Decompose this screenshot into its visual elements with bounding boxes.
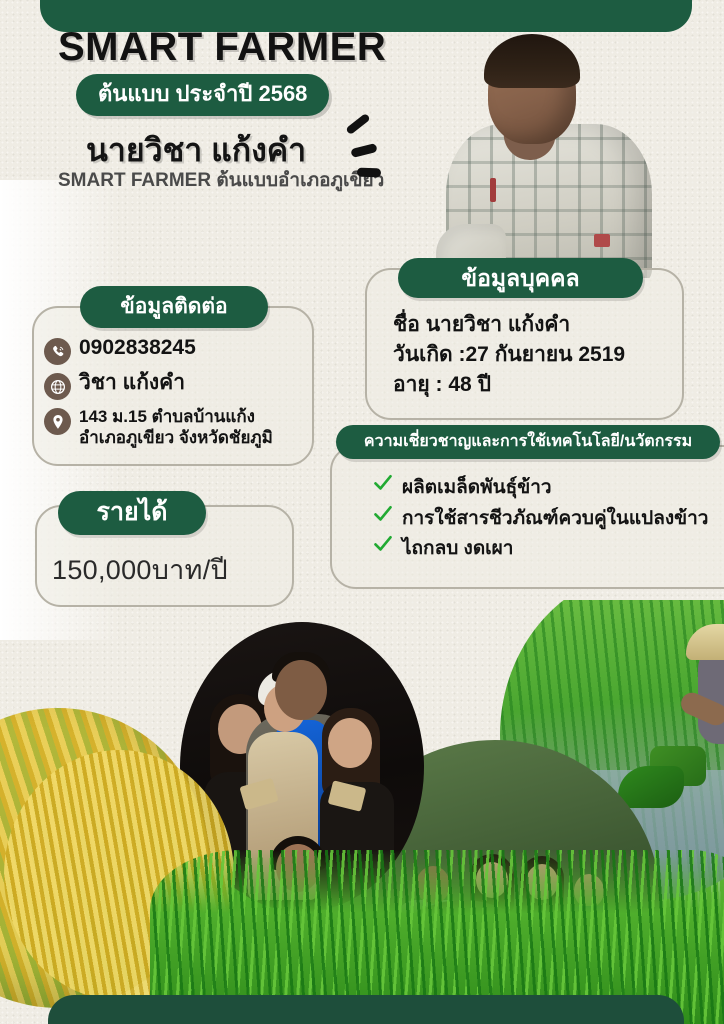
check-icon [372, 534, 396, 554]
person-row-name: ชื่อ นายวิชา แก้งคำ [393, 310, 625, 340]
expertise-item-label: การใช้สารชีวภัณฑ์ควบคู่ในแปลงข้าว [402, 507, 708, 532]
income-card-title: รายได้ [58, 491, 206, 535]
photo-collage [0, 600, 724, 1024]
contact-row-social[interactable]: วิชา แก้งคำ [44, 371, 314, 400]
contact-card-title: ข้อมูลติดต่อ [80, 286, 268, 328]
poster-root: SMART FARMER ต้นแบบ ประจำปี 2568 นายวิชา… [0, 0, 724, 1024]
expertise-item-label: ผลิตเมล็ดพันธุ์ข้าว [402, 476, 552, 501]
sparkle-icon [345, 112, 405, 184]
person-row-age: อายุ : 48 ปี [393, 370, 625, 400]
list-item: ผลิตเมล็ดพันธุ์ข้าว [372, 473, 724, 501]
page-title: SMART FARMER [58, 26, 420, 68]
location-pin-icon [44, 408, 71, 435]
farmer-portrait-photo [418, 28, 676, 278]
bottom-green-bar [48, 995, 684, 1024]
expertise-card-title: ความเชี่ยวชาญและการใช้เทคโนโลยี/นวัตกรรม [336, 425, 720, 459]
contact-list: 0902838245 วิชา แก้งคำ 143 ม.15 ตำบลบ้าน… [44, 336, 314, 455]
address-line-1: 143 ม.15 ตำบลบ้านแก้ง [79, 407, 255, 426]
contact-row-address[interactable]: 143 ม.15 ตำบลบ้านแก้ง อำเภอภูเขียว จังหว… [44, 406, 314, 449]
income-value: 150,000บาท/ปี [52, 548, 228, 591]
address-line-2: อำเภอภูเขียว จังหวัดชัยภูมิ [79, 428, 273, 447]
year-badge: ต้นแบบ ประจำปี 2568 [76, 74, 329, 116]
phone-icon [44, 338, 71, 365]
list-item: ไถกลบ งดเผา [372, 534, 724, 562]
address-text: 143 ม.15 ตำบลบ้านแก้ง อำเภอภูเขียว จังหว… [79, 406, 273, 449]
social-name: วิชา แก้งคำ [79, 371, 185, 396]
phone-number: 0902838245 [79, 336, 196, 361]
contact-row-phone[interactable]: 0902838245 [44, 336, 314, 365]
check-icon [372, 504, 396, 524]
personal-info-card-title: ข้อมูลบุคคล [398, 258, 643, 298]
globe-icon [44, 373, 71, 400]
expertise-item-label: ไถกลบ งดเผา [402, 537, 513, 562]
expertise-list: ผลิตเมล็ดพันธุ์ข้าว การใช้สารชีวภัณฑ์ควบ… [372, 473, 724, 565]
check-icon [372, 473, 396, 493]
list-item: การใช้สารชีวภัณฑ์ควบคู่ในแปลงข้าว [372, 504, 724, 532]
personal-info-list: ชื่อ นายวิชา แก้งคำ วันเกิด :27 กันยายน … [393, 310, 625, 399]
person-row-birthdate: วันเกิด :27 กันยายน 2519 [393, 340, 625, 370]
